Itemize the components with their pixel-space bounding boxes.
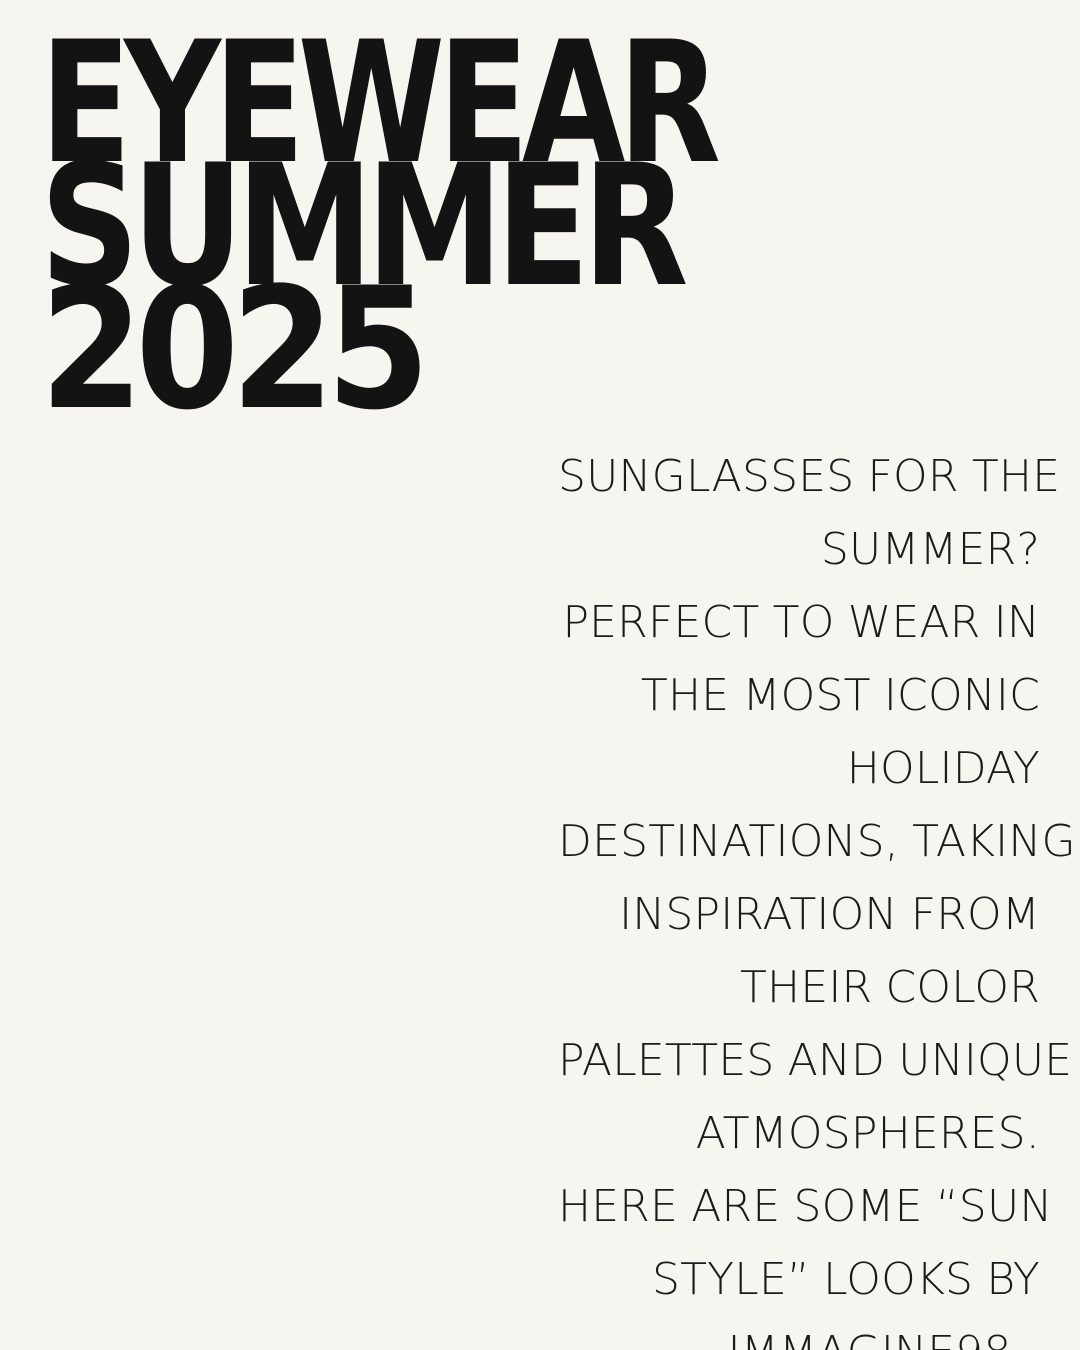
body-copy-line-7: INSPIRATION FROM bbox=[558, 878, 1040, 951]
body-copy-line-5: HOLIDAY bbox=[558, 732, 1040, 805]
body-copy-line-11: HERE ARE SOME “SUN bbox=[558, 1170, 1040, 1243]
body-copy-line-8: THEIR COLOR bbox=[558, 951, 1040, 1024]
body-copy-line-2: SUMMER? bbox=[558, 513, 1040, 586]
body-copy-line-4: THE MOST ICONIC bbox=[558, 659, 1040, 732]
body-copy-line-13: IMMAGINE98.. bbox=[558, 1316, 1040, 1350]
body-copy-line-12: STYLE” LOOKS BY bbox=[558, 1243, 1040, 1316]
body-copy-line-3: PERFECT TO WEAR IN bbox=[558, 586, 1040, 659]
poster-canvas: EYEWEAR SUMMER 2025 SUNGLASSES FOR THE S… bbox=[0, 0, 1080, 1350]
body-copy-block: SUNGLASSES FOR THE SUMMER? PERFECT TO WE… bbox=[558, 440, 1040, 1350]
body-copy-line-6: DESTINATIONS, TAKING bbox=[558, 805, 1040, 878]
headline-line-3: 2025 bbox=[40, 288, 925, 411]
body-copy-line-10: ATMOSPHERES. bbox=[558, 1097, 1040, 1170]
body-copy-line-9: PALETTES AND UNIQUE bbox=[558, 1024, 1040, 1097]
body-copy-line-1: SUNGLASSES FOR THE bbox=[558, 440, 1040, 513]
headline-block: EYEWEAR SUMMER 2025 bbox=[40, 22, 1040, 411]
